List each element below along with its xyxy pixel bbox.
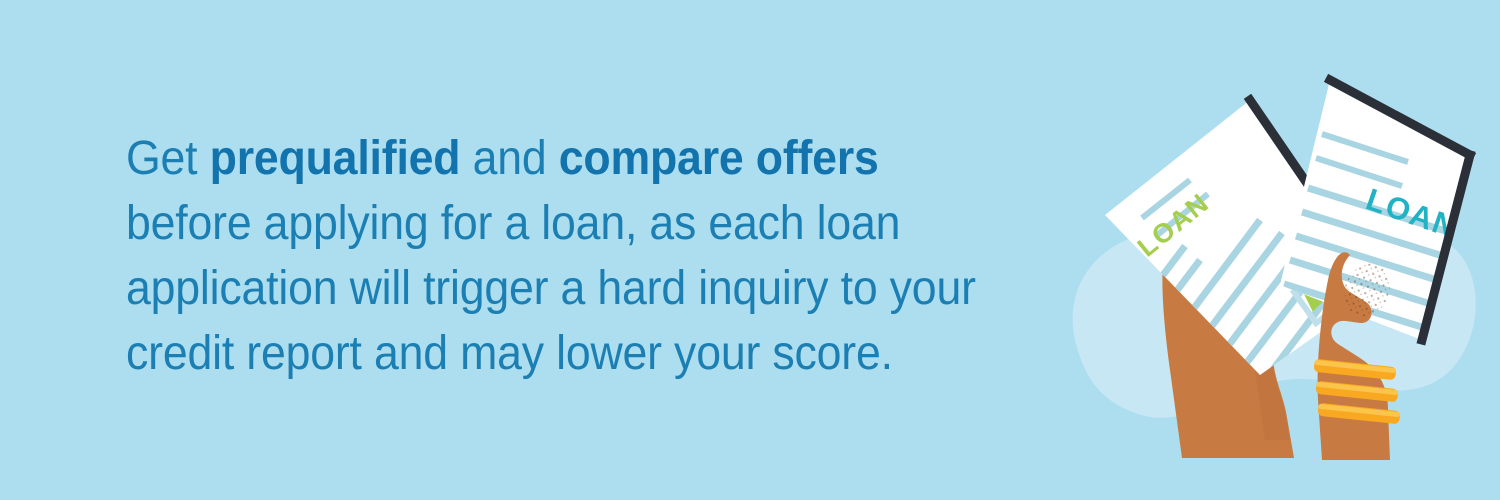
promo-banner: Get prequalified and compare offers befo… — [0, 0, 1500, 500]
bracelet-group — [1313, 359, 1400, 425]
headline-emphasis-prequalified: prequalified — [210, 132, 461, 185]
illustration-hands-tearing-loan-document: LOAN — [1050, 40, 1500, 500]
page-headline: Get prequalified and compare offers befo… — [126, 126, 1010, 386]
headline-emphasis-compare-offers: compare offers — [559, 132, 879, 185]
headline-lead: Get — [126, 132, 210, 185]
headline-tail: before applying for a loan, as each loan… — [126, 197, 976, 380]
copy-block: Get prequalified and compare offers befo… — [126, 126, 1076, 386]
headline-conjunction: and — [460, 132, 558, 185]
